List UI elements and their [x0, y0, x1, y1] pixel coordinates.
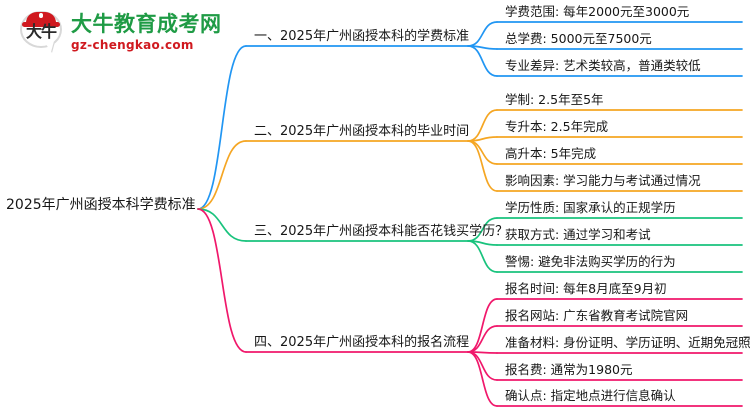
mindmap-leaf-node-1-2-label: 总学费: 5000元至7500元	[505, 33, 652, 46]
mindmap-leaf-node-2-1-label: 学制: 2.5年至5年	[505, 94, 604, 107]
mindmap-leaf-node-3-2[interactable]: 获取方式: 通过学习和考试	[505, 229, 651, 246]
logo-mark-glyph: 大牛	[18, 23, 64, 40]
mindmap-leaf-node-1-1[interactable]: 学费范围: 每年2000元至3000元	[505, 6, 689, 23]
mindmap-leaf-node-2-2-label: 专升本: 2.5年完成	[505, 121, 608, 134]
speech-bubble-tail-icon	[44, 41, 54, 52]
mindmap-branch-node-3[interactable]: 三、2025年广州函授本科能否花钱买学历？	[254, 225, 508, 242]
mindmap-leaf-node-4-4[interactable]: 报名费: 通常为1980元	[505, 364, 633, 381]
mindmap-leaf-node-2-4-label: 影响因素: 学习能力与考试通过情况	[505, 175, 701, 188]
mindmap-leaf-node-1-3[interactable]: 专业差异: 艺术类较高，普通类较低	[505, 60, 701, 77]
mindmap-leaf-node-2-2[interactable]: 专升本: 2.5年完成	[505, 121, 608, 138]
mindmap-leaf-node-3-2-label: 获取方式: 通过学习和考试	[505, 229, 651, 242]
mindmap-leaf-node-4-5-label: 确认点: 指定地点进行信息确认	[505, 390, 676, 403]
mindmap-leaf-node-3-3[interactable]: 警惕: 避免非法购买学历的行为	[505, 256, 676, 273]
logo-text-block: 大牛教育成考网 gz-chengkao.com	[71, 14, 222, 51]
mindmap-branch-node-4-label: 四、2025年广州函授本科的报名流程	[254, 336, 469, 349]
mindmap-leaf-node-4-3[interactable]: 准备材料: 身份证明、学历证明、近期免冠照片	[505, 337, 750, 354]
mindmap-leaf-node-2-4[interactable]: 影响因素: 学习能力与考试通过情况	[505, 175, 701, 192]
mindmap-leaf-node-4-2-label: 报名网站: 广东省教育考试院官网	[505, 310, 688, 323]
mindmap-leaf-node-1-1-label: 学费范围: 每年2000元至3000元	[505, 6, 689, 19]
logo-mark-icon: 大牛	[18, 10, 64, 54]
mindmap-branch-node-1[interactable]: 一、2025年广州函授本科的学费标准	[254, 30, 469, 47]
mindmap-leaf-node-4-1-label: 报名时间: 每年8月底至9月初	[505, 283, 667, 296]
logo-subtitle: gz-chengkao.com	[71, 39, 222, 51]
mindmap-leaf-node-4-1[interactable]: 报名时间: 每年8月底至9月初	[505, 283, 667, 300]
site-logo: 大牛 大牛教育成考网 gz-chengkao.com	[18, 8, 228, 56]
mindmap-leaf-node-4-5[interactable]: 确认点: 指定地点进行信息确认	[505, 390, 676, 407]
mindmap-leaf-node-1-3-label: 专业差异: 艺术类较高，普通类较低	[505, 60, 701, 73]
mindmap-branch-node-4[interactable]: 四、2025年广州函授本科的报名流程	[254, 336, 469, 353]
mindmap-branch-node-2-label: 二、2025年广州函授本科的毕业时间	[254, 125, 469, 138]
mindmap-root-node[interactable]: 2025年广州函授本科学费标准	[6, 198, 196, 212]
mindmap-branch-node-2[interactable]: 二、2025年广州函授本科的毕业时间	[254, 125, 469, 142]
mindmap-leaf-node-2-1[interactable]: 学制: 2.5年至5年	[505, 94, 604, 111]
mindmap-leaf-node-4-2[interactable]: 报名网站: 广东省教育考试院官网	[505, 310, 688, 327]
mindmap-leaf-node-4-4-label: 报名费: 通常为1980元	[505, 364, 633, 377]
mindmap-leaf-node-2-3[interactable]: 高升本: 5年完成	[505, 148, 596, 165]
mindmap-leaf-node-1-2[interactable]: 总学费: 5000元至7500元	[505, 33, 652, 50]
mindmap-branch-node-1-label: 一、2025年广州函授本科的学费标准	[254, 30, 469, 43]
mindmap-root-node-label: 2025年广州函授本科学费标准	[6, 198, 196, 212]
mindmap-branch-node-3-label: 三、2025年广州函授本科能否花钱买学历？	[254, 225, 508, 238]
mindmap-leaf-node-3-3-label: 警惕: 避免非法购买学历的行为	[505, 256, 676, 269]
mindmap-leaf-node-3-1[interactable]: 学历性质: 国家承认的正规学历	[505, 202, 676, 219]
logo-title: 大牛教育成考网	[71, 14, 222, 35]
mindmap-leaf-node-4-3-label: 准备材料: 身份证明、学历证明、近期免冠照片	[505, 337, 750, 350]
mindmap-leaf-node-3-1-label: 学历性质: 国家承认的正规学历	[505, 202, 676, 215]
mindmap-leaf-node-2-3-label: 高升本: 5年完成	[505, 148, 596, 161]
